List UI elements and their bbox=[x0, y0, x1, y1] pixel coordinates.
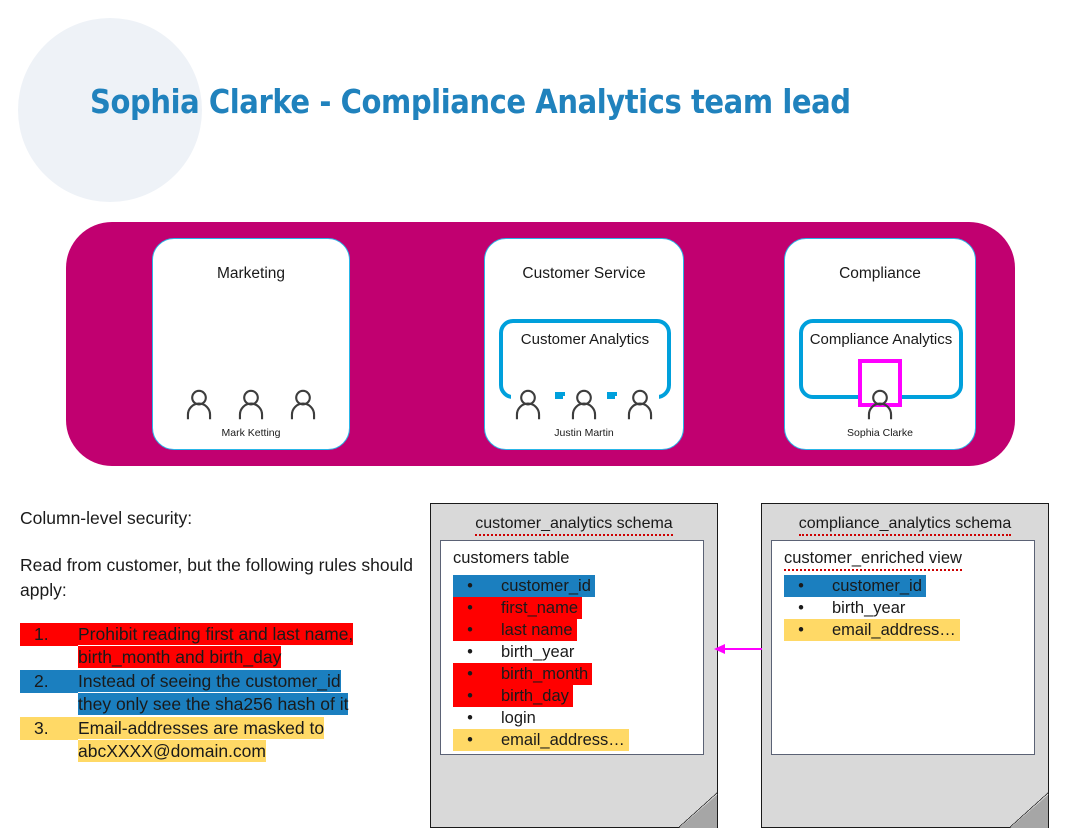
department-card-compliance[interactable]: Compliance Compliance Analytics Sophia C… bbox=[784, 238, 976, 450]
rule-line: abcXXXX@domain.com bbox=[78, 740, 266, 762]
column-name: email_address… bbox=[816, 619, 956, 641]
bullet-icon: • bbox=[455, 641, 485, 663]
rule-line: birth_month and birth_day bbox=[78, 646, 281, 668]
rule-item: 3. Email-addresses are masked to abcXXXX… bbox=[20, 717, 420, 763]
document-fold-edge bbox=[1009, 792, 1049, 828]
person-icon bbox=[623, 387, 657, 421]
rule-number: 1. bbox=[20, 623, 78, 646]
analytics-group-label: Customer Analytics bbox=[503, 330, 667, 350]
document-inner-panel: customers table •customer_id •first_name… bbox=[440, 540, 704, 755]
column-name: birth_year bbox=[485, 641, 574, 663]
rule-line: they only see the sha256 hash of it bbox=[78, 693, 348, 715]
column-row: •email_address… bbox=[784, 619, 960, 641]
connector-arrow bbox=[714, 644, 762, 654]
people-group bbox=[785, 387, 975, 421]
column-row: •customer_id bbox=[784, 575, 960, 597]
column-row: •email_address… bbox=[453, 729, 629, 751]
page-title: Sophia Clarke - Compliance Analytics tea… bbox=[90, 82, 851, 121]
rule-line: Instead of seeing the customer_id bbox=[78, 670, 341, 692]
rule-text: Instead of seeing the customer_id they o… bbox=[78, 670, 348, 715]
person-icon bbox=[182, 387, 216, 421]
column-row: •birth_day bbox=[453, 685, 629, 707]
department-card-customer-service[interactable]: Customer Service Customer Analytics Just… bbox=[484, 238, 684, 450]
person-icon bbox=[234, 387, 268, 421]
column-list: •customer_id •first_name •last name •bir… bbox=[453, 575, 629, 751]
column-list: •customer_id •birth_year •email_address… bbox=[784, 575, 960, 641]
bullet-icon: • bbox=[786, 575, 816, 597]
connector-shaft bbox=[722, 648, 762, 650]
people-group bbox=[485, 387, 683, 421]
people-group bbox=[153, 387, 349, 421]
column-row: •birth_year bbox=[453, 641, 629, 663]
rule-item: 1. Prohibit reading first and last name,… bbox=[20, 623, 420, 669]
schema-title: customer_analytics schema bbox=[430, 515, 718, 536]
column-name: customer_id bbox=[816, 575, 922, 597]
rule-number: 3. bbox=[20, 717, 78, 740]
department-title: Marketing bbox=[153, 265, 349, 283]
bullet-icon: • bbox=[786, 597, 816, 619]
bullet-icon: • bbox=[455, 685, 485, 707]
document-fold-edge bbox=[678, 792, 718, 828]
column-name: customer_id bbox=[485, 575, 591, 597]
bullet-icon: • bbox=[455, 575, 485, 597]
schema-title-text: compliance_analytics schema bbox=[799, 515, 1012, 536]
person-icon bbox=[567, 387, 601, 421]
department-person-name: Sophia Clarke bbox=[785, 427, 975, 439]
object-name: customers table bbox=[453, 549, 569, 568]
rule-number: 2. bbox=[20, 670, 78, 693]
person-icon bbox=[286, 387, 320, 421]
rule-text: Email-addresses are masked to abcXXXX@do… bbox=[78, 717, 324, 762]
org-structure-panel: Marketing Mark Ketting Customer Service … bbox=[66, 222, 1015, 466]
schema-document-compliance-analytics[interactable]: compliance_analytics schema customer_enr… bbox=[761, 503, 1049, 828]
notes-lead: Read from customer, but the following ru… bbox=[20, 553, 420, 603]
column-row: •birth_month bbox=[453, 663, 629, 685]
bullet-icon: • bbox=[786, 619, 816, 641]
column-row: •birth_year bbox=[784, 597, 960, 619]
column-name: first_name bbox=[485, 597, 578, 619]
person-icon bbox=[511, 387, 545, 421]
bullet-icon: • bbox=[455, 619, 485, 641]
bullet-icon: • bbox=[455, 663, 485, 685]
column-row: •first_name bbox=[453, 597, 629, 619]
notes-intro: Column-level security: bbox=[20, 506, 420, 531]
rule-text: Prohibit reading first and last name, bi… bbox=[78, 623, 353, 668]
notes-block: Column-level security: Read from custome… bbox=[20, 506, 420, 764]
schema-document-customer-analytics[interactable]: customer_analytics schema customers tabl… bbox=[430, 503, 718, 828]
analytics-group-label: Compliance Analytics bbox=[803, 330, 959, 350]
schema-title: compliance_analytics schema bbox=[761, 515, 1049, 536]
column-name: birth_day bbox=[485, 685, 569, 707]
department-card-marketing[interactable]: Marketing Mark Ketting bbox=[152, 238, 350, 450]
object-name: customer_enriched view bbox=[784, 549, 962, 571]
document-inner-panel: customer_enriched view •customer_id •bir… bbox=[771, 540, 1035, 755]
department-title: Customer Service bbox=[485, 265, 683, 283]
schema-title-text: customer_analytics schema bbox=[475, 515, 672, 536]
department-person-name: Justin Martin bbox=[485, 427, 683, 439]
rule-line: Email-addresses are masked to bbox=[78, 717, 324, 739]
column-row: •customer_id bbox=[453, 575, 629, 597]
column-row: •last name bbox=[453, 619, 629, 641]
arrowhead-icon bbox=[714, 644, 725, 654]
column-name: birth_month bbox=[485, 663, 588, 685]
rule-line: Prohibit reading first and last name, bbox=[78, 623, 353, 645]
column-name: birth_year bbox=[816, 597, 905, 619]
bullet-icon: • bbox=[455, 729, 485, 751]
bullet-icon: • bbox=[455, 707, 485, 729]
person-icon bbox=[863, 387, 897, 421]
rule-item: 2. Instead of seeing the customer_id the… bbox=[20, 670, 420, 716]
column-name: last name bbox=[485, 619, 573, 641]
column-name: login bbox=[485, 707, 536, 729]
column-row: •login bbox=[453, 707, 629, 729]
department-title: Compliance bbox=[785, 265, 975, 283]
bullet-icon: • bbox=[455, 597, 485, 619]
department-person-name: Mark Ketting bbox=[153, 427, 349, 439]
column-name: email_address… bbox=[485, 729, 625, 751]
rules-list: 1. Prohibit reading first and last name,… bbox=[20, 623, 420, 763]
